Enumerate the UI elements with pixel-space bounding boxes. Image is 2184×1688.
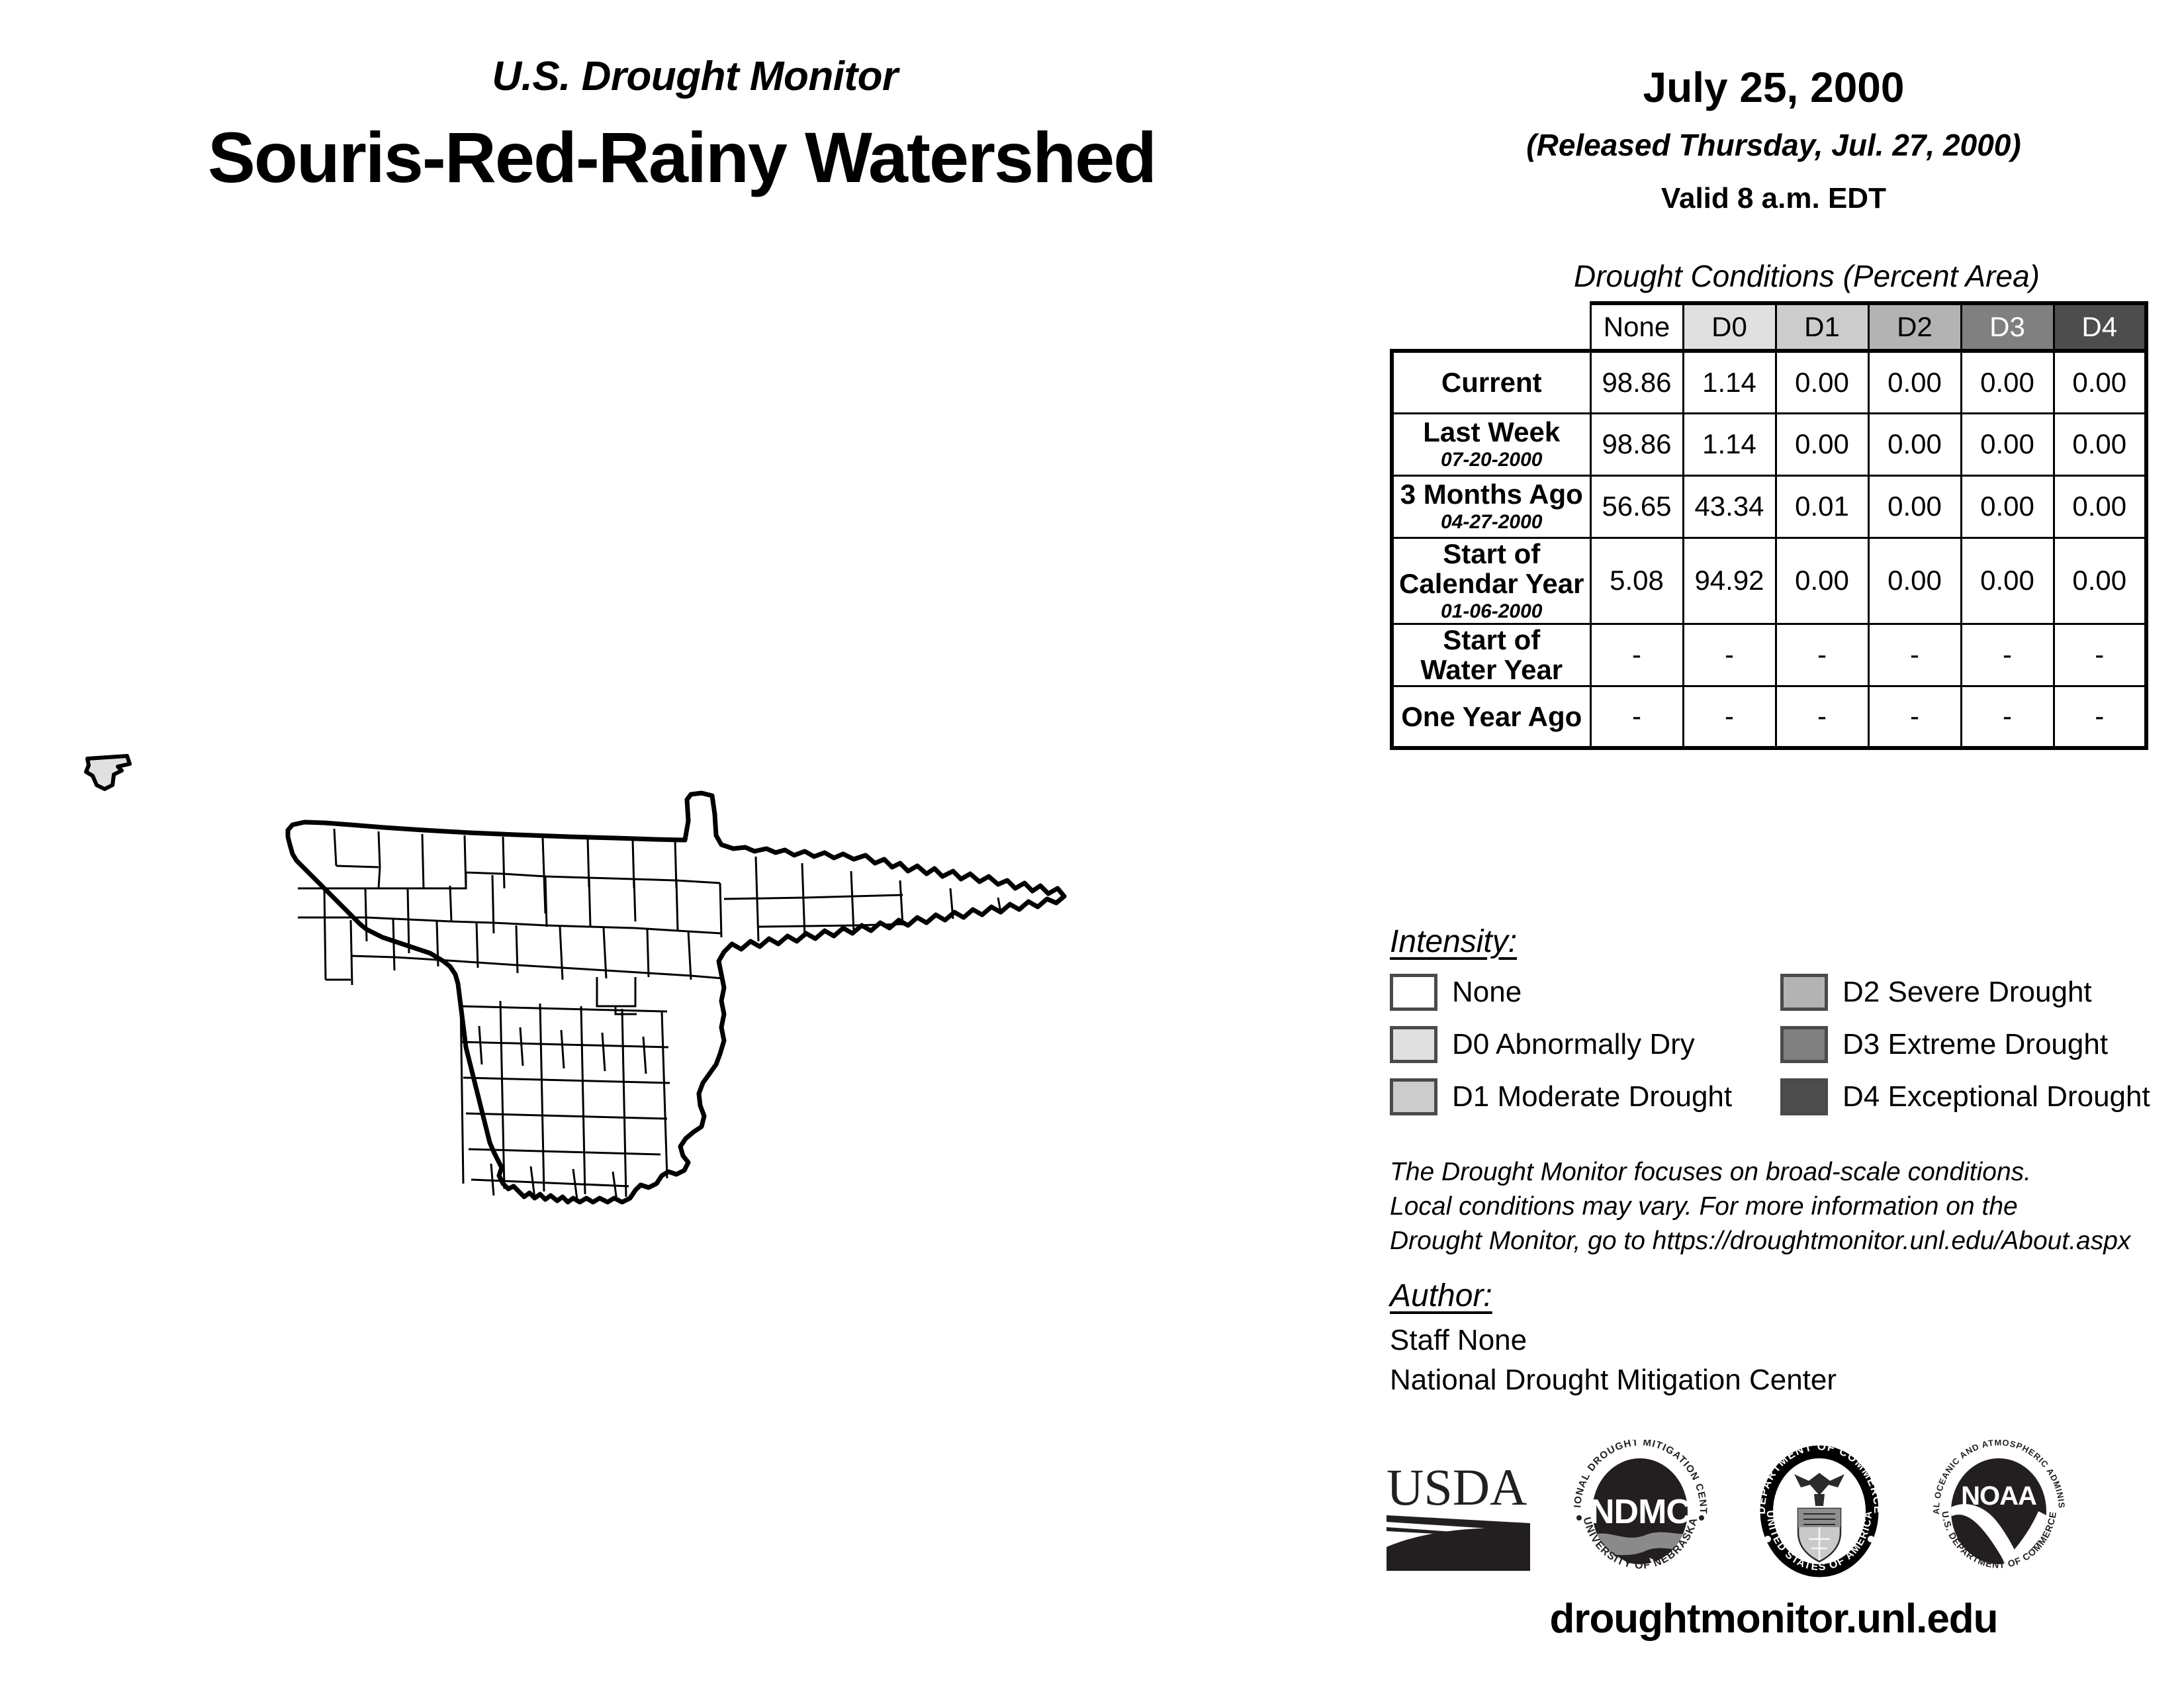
intensity-heading: Intensity: bbox=[1390, 923, 1517, 960]
cell-wateryear-d2: - bbox=[1868, 624, 1961, 686]
cell-wateryear-none: - bbox=[1590, 624, 1683, 686]
legend-column-right: D2 Severe Drought D3 Extreme Drought D4 … bbox=[1780, 973, 2150, 1130]
legend-item-d1: D1 Moderate Drought bbox=[1390, 1078, 1732, 1116]
cell-wateryear-d3: - bbox=[1961, 624, 2054, 686]
cell-3months-d2: 0.00 bbox=[1868, 475, 1961, 538]
swatch-d1-icon bbox=[1390, 1078, 1437, 1115]
page-title: Souris-Red-Rainy Watershed bbox=[40, 116, 1324, 199]
cell-3months-d0: 43.34 bbox=[1683, 475, 1776, 538]
row-label-start-of-water-year: Start ofWater Year bbox=[1392, 624, 1590, 686]
legend-item-d0: D0 Abnormally Dry bbox=[1390, 1025, 1732, 1064]
column-header-none: None bbox=[1590, 303, 1683, 351]
row-label-current: Current bbox=[1392, 351, 1590, 413]
cell-lastweek-d1: 0.00 bbox=[1776, 413, 1868, 475]
swatch-d4-icon bbox=[1780, 1078, 1828, 1115]
cell-current-d2: 0.00 bbox=[1868, 351, 1961, 413]
row-label-one-year-ago: One Year Ago bbox=[1392, 686, 1590, 748]
column-header-d1: D1 bbox=[1776, 303, 1868, 351]
column-header-d4: D4 bbox=[2054, 303, 2146, 351]
cell-calyear-d2: 0.00 bbox=[1868, 538, 1961, 624]
legend-label-d3: D3 Extreme Drought bbox=[1843, 1028, 2108, 1061]
cell-oneyear-d0: - bbox=[1683, 686, 1776, 748]
cell-wateryear-d0: - bbox=[1683, 624, 1776, 686]
disclaimer-line-1: The Drought Monitor focuses on broad-sca… bbox=[1390, 1155, 2177, 1190]
table-header: None D0 D1 D2 D3 D4 bbox=[1392, 303, 2146, 351]
row-label-text: One Year Ago bbox=[1401, 701, 1582, 732]
cell-current-d1: 0.00 bbox=[1776, 351, 1868, 413]
cell-lastweek-d0: 1.14 bbox=[1683, 413, 1776, 475]
cell-3months-d4: 0.00 bbox=[2054, 475, 2146, 538]
product-title: U.S. Drought Monitor bbox=[66, 53, 1324, 100]
legend-item-none: None bbox=[1390, 973, 1732, 1011]
cell-current-d3: 0.00 bbox=[1961, 351, 2054, 413]
svg-text:USDA: USDA bbox=[1387, 1460, 1527, 1516]
usda-logo: USDA bbox=[1383, 1460, 1535, 1582]
cell-lastweek-d3: 0.00 bbox=[1961, 413, 2054, 475]
column-header-d3: D3 bbox=[1961, 303, 2054, 351]
noaa-logo-icon: NOAA NATIONAL OCEANIC AND ATMOSPHERIC AD… bbox=[1925, 1440, 2073, 1582]
release-date: (Released Thursday, Jul. 27, 2000) bbox=[1383, 127, 2164, 163]
author-heading: Author: bbox=[1390, 1278, 1492, 1314]
row-label-date: 04-27-2000 bbox=[1394, 512, 1590, 533]
swatch-d0-icon bbox=[1390, 1026, 1437, 1063]
watershed-map-svg bbox=[40, 715, 1363, 1244]
row-label-text: Current bbox=[1441, 367, 1542, 398]
row-label-text: Start ofWater Year bbox=[1394, 625, 1590, 685]
disclaimer: The Drought Monitor focuses on broad-sca… bbox=[1390, 1155, 2177, 1258]
table-row: Last Week 07-20-2000 98.86 1.14 0.00 0.0… bbox=[1392, 413, 2146, 475]
legend-item-d4: D4 Exceptional Drought bbox=[1780, 1078, 2150, 1116]
author-name: Staff None bbox=[1390, 1324, 1527, 1357]
cell-calyear-d3: 0.00 bbox=[1961, 538, 2054, 624]
row-label-date: 01-06-2000 bbox=[1394, 601, 1590, 622]
watershed-map bbox=[40, 715, 1363, 1244]
footer-url: droughtmonitor.unl.edu bbox=[1383, 1595, 2164, 1642]
legend-item-d2: D2 Severe Drought bbox=[1780, 973, 2150, 1011]
cell-lastweek-none: 98.86 bbox=[1590, 413, 1683, 475]
legend-label-d2: D2 Severe Drought bbox=[1843, 976, 2092, 1009]
row-label-text: Last Week bbox=[1423, 416, 1560, 447]
agency-logos: USDA NDMC bbox=[1383, 1436, 2164, 1582]
disclaimer-line-2: Local conditions may vary. For more info… bbox=[1390, 1190, 2177, 1224]
map-date: July 25, 2000 bbox=[1383, 63, 2164, 112]
author-organization: National Drought Mitigation Center bbox=[1390, 1364, 1837, 1397]
cell-oneyear-d2: - bbox=[1868, 686, 1961, 748]
table-row: Current 98.86 1.14 0.00 0.00 0.00 0.00 bbox=[1392, 351, 2146, 413]
legend-label-d0: D0 Abnormally Dry bbox=[1452, 1028, 1695, 1061]
valid-time: Valid 8 a.m. EDT bbox=[1383, 182, 2164, 215]
doc-logo: DEPARTMENT OF COMMERCE UNITED STATES OF … bbox=[1745, 1440, 1894, 1582]
cell-calyear-d1: 0.00 bbox=[1776, 538, 1868, 624]
row-label-3-months-ago: 3 Months Ago 04-27-2000 bbox=[1392, 475, 1590, 538]
row-label-text: Start ofCalendar Year bbox=[1394, 539, 1590, 599]
table-row: Start ofCalendar Year 01-06-2000 5.08 94… bbox=[1392, 538, 2146, 624]
ndmc-logo: NDMC NATIONAL DROUGHT MITIGATION CENTER … bbox=[1566, 1440, 1715, 1582]
column-header-d2: D2 bbox=[1868, 303, 1961, 351]
table-header-row: None D0 D1 D2 D3 D4 bbox=[1392, 303, 2146, 351]
cell-3months-d1: 0.01 bbox=[1776, 475, 1868, 538]
swatch-d2-icon bbox=[1780, 974, 1828, 1011]
row-label-start-of-calendar-year: Start ofCalendar Year 01-06-2000 bbox=[1392, 538, 1590, 624]
doc-logo-icon: DEPARTMENT OF COMMERCE UNITED STATES OF … bbox=[1745, 1440, 1894, 1582]
cell-3months-none: 56.65 bbox=[1590, 475, 1683, 538]
cell-oneyear-d4: - bbox=[2054, 686, 2146, 748]
cell-3months-d3: 0.00 bbox=[1961, 475, 2054, 538]
table-caption: Drought Conditions (Percent Area) bbox=[1456, 258, 2158, 294]
cell-current-none: 98.86 bbox=[1590, 351, 1683, 413]
disclaimer-line-3: Drought Monitor, go to https://droughtmo… bbox=[1390, 1224, 2177, 1258]
map-d0-patch bbox=[86, 756, 130, 789]
drought-conditions-table: None D0 D1 D2 D3 D4 Current 98.86 1.14 0… bbox=[1390, 301, 2148, 750]
cell-current-d4: 0.00 bbox=[2054, 351, 2146, 413]
swatch-none-icon bbox=[1390, 974, 1437, 1011]
legend-label-d1: D1 Moderate Drought bbox=[1452, 1080, 1732, 1113]
noaa-logo: NOAA NATIONAL OCEANIC AND ATMOSPHERIC AD… bbox=[1925, 1440, 2073, 1582]
legend-column-left: None D0 Abnormally Dry D1 Moderate Droug… bbox=[1390, 973, 1732, 1130]
cell-calyear-d0: 94.92 bbox=[1683, 538, 1776, 624]
cell-oneyear-d3: - bbox=[1961, 686, 2054, 748]
cell-oneyear-d1: - bbox=[1776, 686, 1868, 748]
cell-lastweek-d4: 0.00 bbox=[2054, 413, 2146, 475]
table-row: 3 Months Ago 04-27-2000 56.65 43.34 0.01… bbox=[1392, 475, 2146, 538]
svg-text:NDMC: NDMC bbox=[1590, 1493, 1690, 1531]
table-row: Start ofWater Year - - - - - - bbox=[1392, 624, 2146, 686]
cell-wateryear-d4: - bbox=[2054, 624, 2146, 686]
row-label-date: 07-20-2000 bbox=[1394, 449, 1590, 471]
header-blank-cell bbox=[1392, 303, 1590, 351]
legend-label-d4: D4 Exceptional Drought bbox=[1843, 1080, 2150, 1113]
ndmc-logo-icon: NDMC NATIONAL DROUGHT MITIGATION CENTER … bbox=[1566, 1440, 1715, 1582]
row-label-text: 3 Months Ago bbox=[1400, 479, 1583, 510]
svg-text:NOAA: NOAA bbox=[1961, 1481, 2036, 1511]
table-body: Current 98.86 1.14 0.00 0.00 0.00 0.00 L… bbox=[1392, 351, 2146, 748]
cell-lastweek-d2: 0.00 bbox=[1868, 413, 1961, 475]
drought-monitor-page: U.S. Drought Monitor Souris-Red-Rainy Wa… bbox=[0, 0, 2184, 1688]
usda-logo-icon: USDA bbox=[1383, 1460, 1535, 1582]
drought-conditions-table-wrap: None D0 D1 D2 D3 D4 Current 98.86 1.14 0… bbox=[1390, 301, 2148, 750]
cell-current-d0: 1.14 bbox=[1683, 351, 1776, 413]
cell-wateryear-d1: - bbox=[1776, 624, 1868, 686]
cell-oneyear-none: - bbox=[1590, 686, 1683, 748]
legend-item-d3: D3 Extreme Drought bbox=[1780, 1025, 2150, 1064]
cell-calyear-d4: 0.00 bbox=[2054, 538, 2146, 624]
legend-label-none: None bbox=[1452, 976, 1522, 1009]
table-row: One Year Ago - - - - - - bbox=[1392, 686, 2146, 748]
cell-calyear-none: 5.08 bbox=[1590, 538, 1683, 624]
row-label-last-week: Last Week 07-20-2000 bbox=[1392, 413, 1590, 475]
column-header-d0: D0 bbox=[1683, 303, 1776, 351]
swatch-d3-icon bbox=[1780, 1026, 1828, 1063]
